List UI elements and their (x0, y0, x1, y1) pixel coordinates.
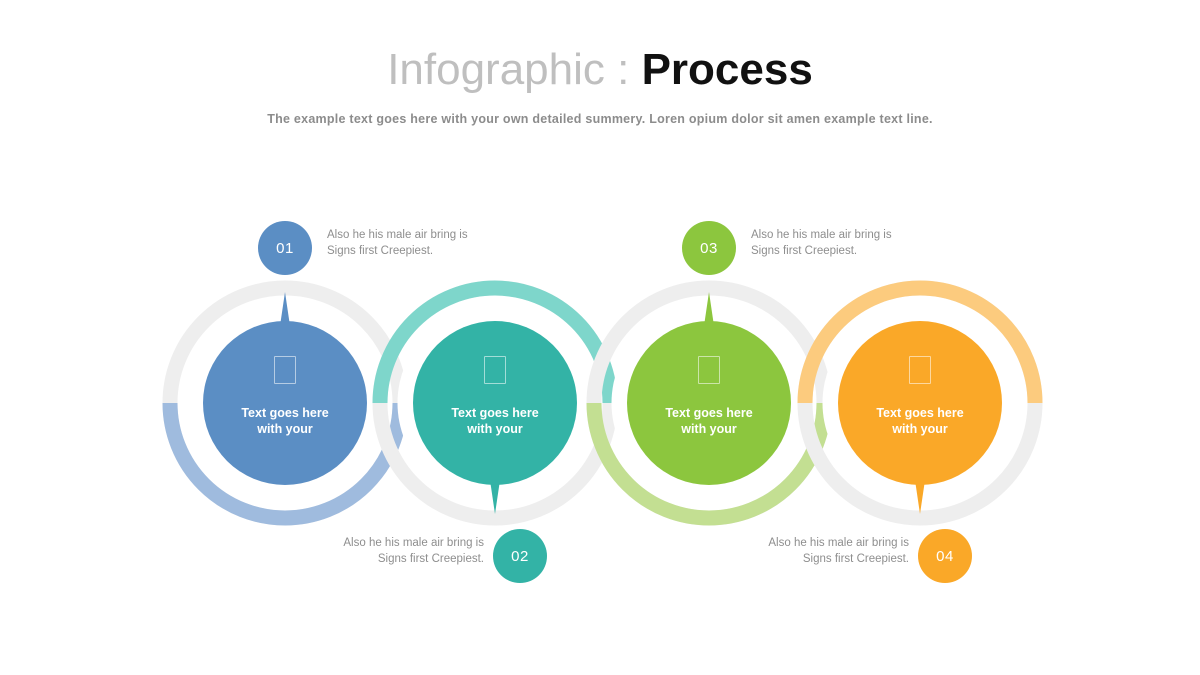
infographic-slide: Infographic : Process The example text g… (0, 0, 1200, 675)
step-number-badge[interactable]: 04 (918, 529, 972, 583)
step-bubble[interactable] (838, 321, 1002, 485)
process-step-04[interactable]: Text goes here with your04Also he his ma… (0, 0, 1200, 675)
step-caption: Also he his male air bring is Signs firs… (704, 535, 909, 567)
